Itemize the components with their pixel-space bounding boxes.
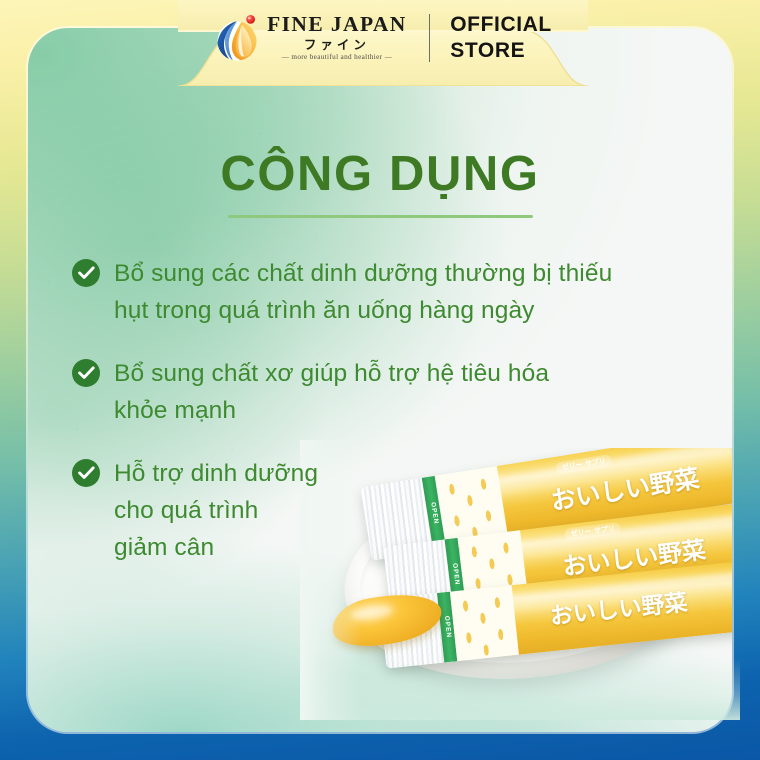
brand-name: FINE JAPAN (267, 14, 407, 36)
benefit-line: Hỗ trợ dinh dưỡng (114, 455, 318, 492)
benefit-line: giảm cân (114, 529, 318, 566)
benefit-line: khỏe mạnh (114, 392, 549, 429)
benefit-text: Hỗ trợ dinh dưỡng cho quá trình giảm cân (114, 455, 318, 566)
brand-kana: ファイン (304, 39, 370, 52)
brand-wordmark: FINE JAPAN ファイン — more beautiful and hea… (267, 14, 407, 61)
title-divider (228, 215, 533, 218)
header-divider (429, 14, 431, 62)
stick-open-label: OPEN (442, 616, 451, 639)
list-item: Bổ sung chất xơ giúp hỗ trợ hệ tiêu hóa … (72, 355, 672, 429)
official-store-line1: OFFICIAL (450, 12, 552, 38)
benefit-line: cho quá trình (114, 492, 318, 529)
check-circle-icon (72, 359, 100, 387)
benefit-text: Bổ sung các chất dinh dưỡng thường bị th… (114, 255, 612, 329)
brand-tagline: — more beautiful and healthier — (282, 54, 392, 61)
promo-banner-frame: OPEN ゼリー サプリ おいしい野菜 OPEN ゼリー サプリ おいしい野菜 … (0, 0, 760, 760)
stick-leaf-pattern (450, 585, 519, 661)
benefit-line: hụt trong quá trình ăn uống hàng ngày (114, 292, 612, 329)
benefit-text: Bổ sung chất xơ giúp hỗ trợ hệ tiêu hóa … (114, 355, 549, 429)
page-title: CÔNG DỤNG (0, 146, 760, 202)
benefits-list: Bổ sung các chất dinh dưỡng thường bị th… (72, 255, 672, 592)
check-circle-icon (72, 259, 100, 287)
fine-japan-logo-icon (214, 13, 260, 63)
benefit-line: Bổ sung chất xơ giúp hỗ trợ hệ tiêu hóa (114, 355, 549, 392)
official-store-line2: STORE (450, 38, 552, 64)
check-circle-icon (72, 459, 100, 487)
official-store-label: OFFICIAL STORE (450, 12, 552, 65)
benefit-line: Bổ sung các chất dinh dưỡng thường bị th… (114, 255, 612, 292)
list-item: Hỗ trợ dinh dưỡng cho quá trình giảm cân (72, 455, 672, 566)
brand-header-banner: FINE JAPAN ファイン — more beautiful and hea… (178, 0, 588, 86)
list-item: Bổ sung các chất dinh dưỡng thường bị th… (72, 255, 672, 329)
